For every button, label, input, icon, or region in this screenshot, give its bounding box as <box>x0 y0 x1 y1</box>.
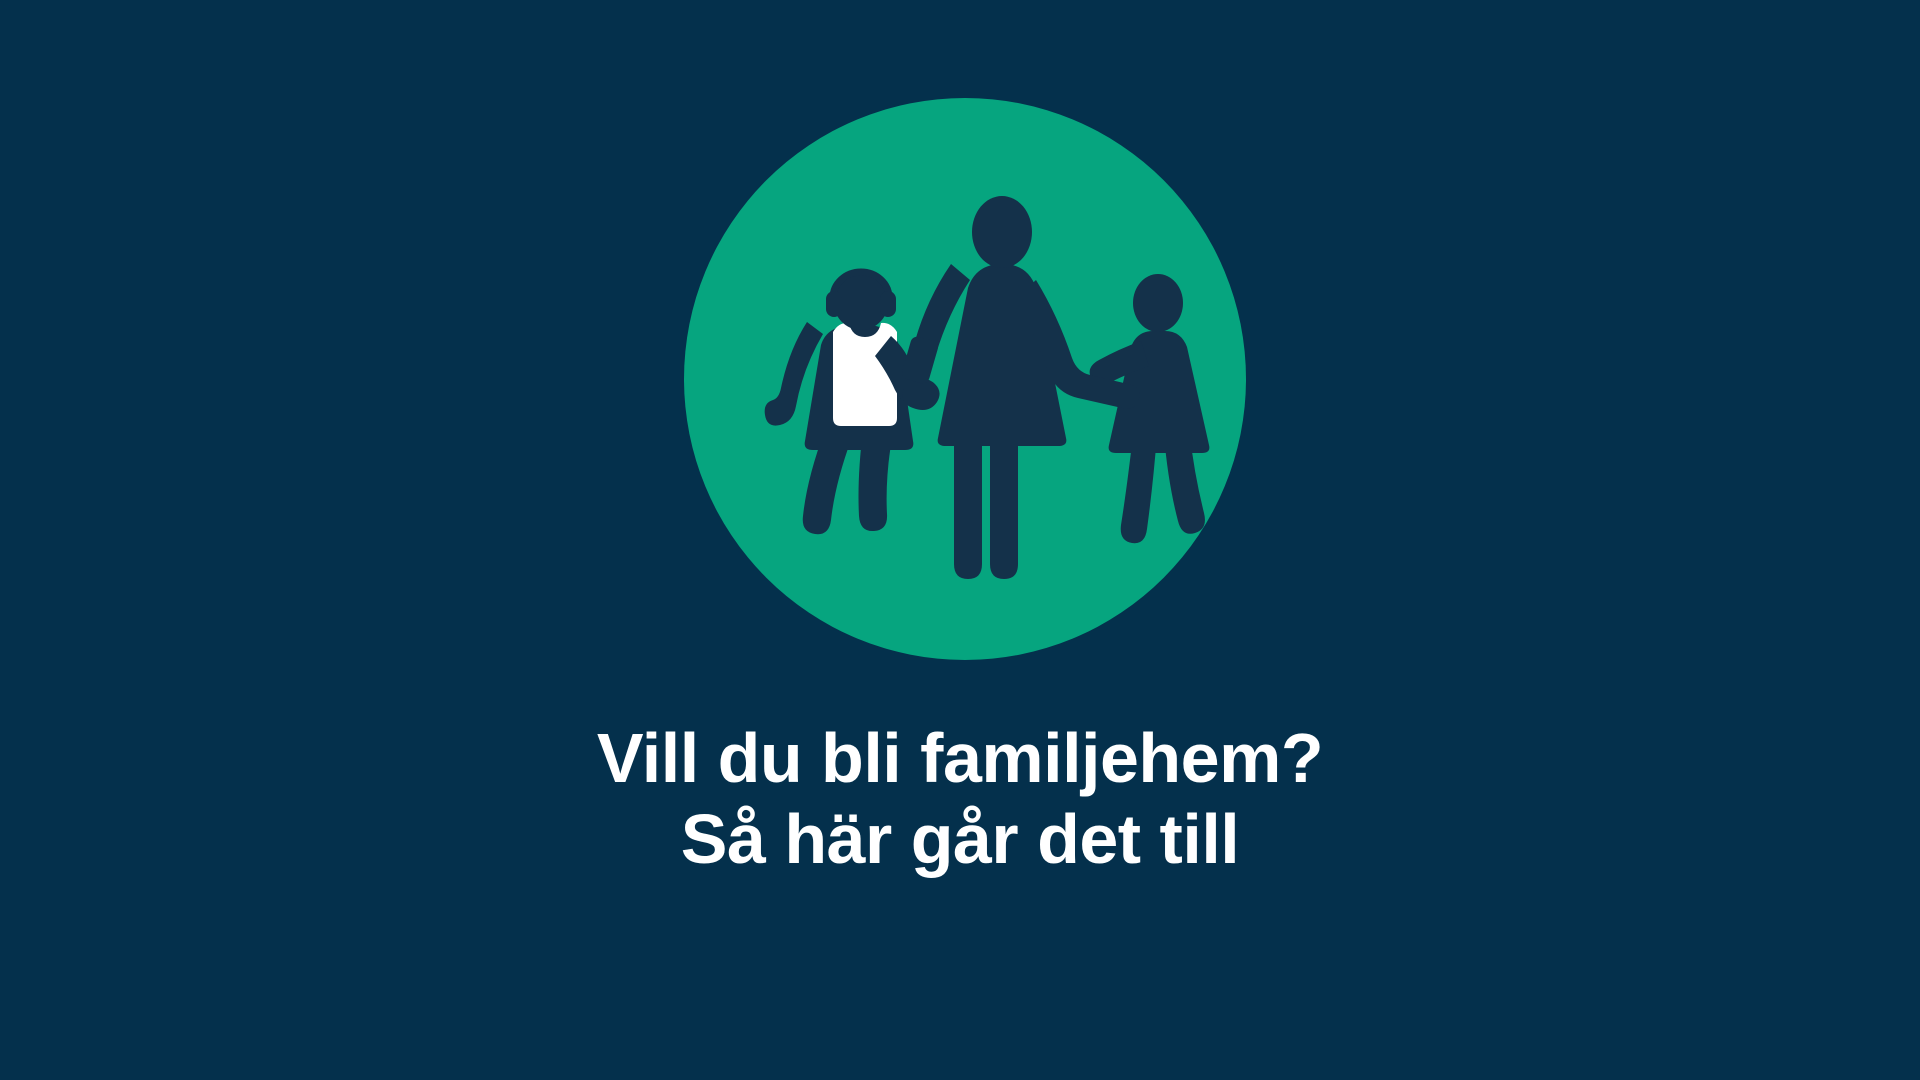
teen-headphone-cup-right <box>880 291 896 317</box>
teen-headphone-cup-left <box>826 291 842 317</box>
family-illustration <box>0 0 1920 1080</box>
slide-root: Vill du bli familjehem? Så här går det t… <box>0 0 1920 1080</box>
